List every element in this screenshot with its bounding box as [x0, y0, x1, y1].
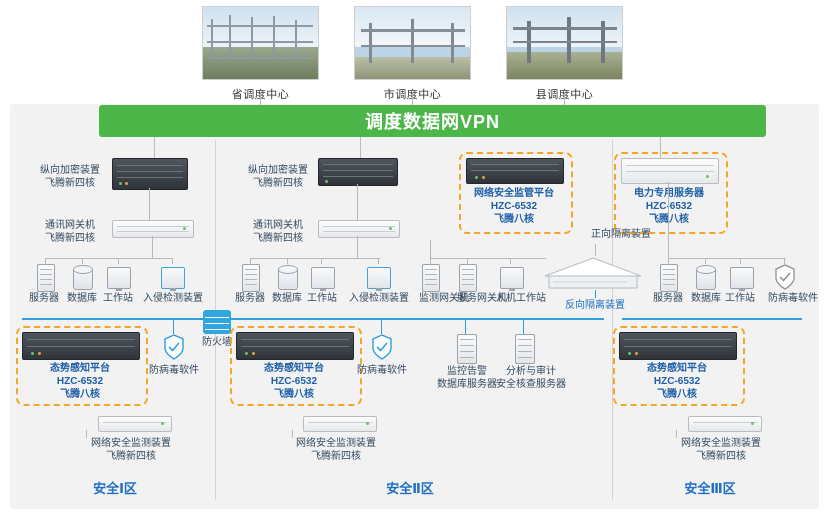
zone1-encryption-label-line2: 飞腾新四核 [30, 177, 110, 190]
photo-row: 省调度中心 市调度中心 [0, 0, 829, 100]
zone1-antivirus-drop [173, 318, 174, 334]
zone1-gateway-label-line2: 飞腾新四核 [32, 232, 108, 245]
zone-label-1: 安全Ⅰ区 [55, 478, 175, 497]
zone1-situation-device [22, 332, 140, 360]
zone1-encryption-label-line1: 纵向加密装置 [30, 164, 110, 177]
zone2-situation-label-1: 态势感知平台 [234, 362, 354, 375]
zone2-encryption-device [318, 158, 398, 186]
zone2-gateway-label-line1: 通讯网关机 [240, 219, 316, 232]
zone3-icon-drop-2 [705, 258, 706, 264]
photo-provincial-dispatch-center [202, 6, 319, 80]
zone-separator-2 [612, 140, 613, 500]
zone1-encrypt-to-gateway-line [149, 188, 150, 220]
zone2-encrypt-to-gateway-line [357, 184, 358, 220]
zone2-icon-drop-4 [378, 258, 379, 264]
zone3-isolation-uplink [595, 244, 596, 256]
zone2-encryption-label-line2: 飞腾新四核 [238, 177, 318, 190]
zone2-situation-label-3: 飞腾八核 [234, 388, 354, 401]
zone3-power-server-device [621, 158, 719, 184]
zone3-workstation-icon [730, 267, 754, 289]
photo-cell-provincial: 省调度中心 [188, 6, 333, 102]
zone2-platform-label-1: 网络安全监管平台 [459, 187, 569, 200]
zone2-situation-label-2: HZC-6532 [234, 375, 354, 388]
zone2-service-gateway-icon [459, 264, 477, 292]
zone3-icon-bus [668, 258, 786, 259]
zone3-database-icon [696, 265, 714, 289]
zone2-monitor-label-2: 飞腾新四核 [268, 450, 404, 463]
photo-cell-county: 县调度中心 [492, 6, 637, 102]
photo-vpn-connector-2 [412, 92, 413, 105]
zone2-workstation-icon [311, 267, 335, 289]
zone2-antivirus-icon [371, 334, 393, 360]
photo-vpn-connector-3 [564, 92, 565, 105]
zone1-icon-drop-3 [118, 258, 119, 264]
vpn-bar: 调度数据网VPN [99, 105, 766, 137]
zone1-icon-bus-ext [157, 258, 173, 259]
zone2-audit-server-icon-1 [457, 334, 477, 364]
zone3-situation-label-3: 飞腾八核 [617, 388, 737, 401]
photo-cell-municipal: 市调度中心 [340, 6, 485, 102]
zone2-platform-label-3: 飞腾八核 [459, 213, 569, 226]
vpn-drop-zone2 [360, 137, 361, 159]
zone2-right-icon-bus [430, 258, 546, 259]
zone2-bus-line [228, 318, 604, 320]
zone2-encryption-label-line1: 纵向加密装置 [238, 164, 318, 177]
zone1-monitor-label-2: 飞腾新四核 [63, 450, 199, 463]
zone1-intrusion-detection-icon [161, 267, 185, 289]
zone3-server-drop [668, 182, 669, 258]
zone1-gateway-label-line1: 通讯网关机 [32, 219, 108, 232]
zone3-antivirus-icon [774, 264, 796, 290]
zone2-icon-drop-3 [321, 258, 322, 264]
zone2-right-drop-3 [510, 258, 511, 264]
zone1-server-icon [37, 264, 55, 292]
zone2-audit-label-3: 分析与审计 [488, 365, 574, 378]
zone1-icon-bus [45, 258, 157, 259]
zone1-situation-label-3: 飞腾八核 [20, 388, 140, 401]
zone1-bus-line [22, 318, 208, 320]
zone2-monitor-label-1: 网络安全监测装置 [268, 437, 404, 450]
zone3-situation-label-1: 态势感知平台 [617, 362, 737, 375]
zone3-monitor-label-1: 网络安全监测装置 [653, 437, 789, 450]
zone3-isolation-device [543, 256, 643, 294]
zone1-situation-label-1: 态势感知平台 [20, 362, 140, 375]
zone-label-2: 安全Ⅱ区 [350, 478, 470, 497]
zone3-bus-line [622, 318, 802, 320]
zone2-antivirus-drop [381, 318, 382, 334]
zone1-firewall-icon [203, 310, 231, 334]
zone3-monitor-label-2: 飞腾新四核 [653, 450, 789, 463]
vpn-drop-zone1 [154, 137, 155, 159]
zone1-workstation-icon [107, 267, 131, 289]
zone3-forward-isolation-label: 正向隔离装置 [566, 228, 676, 241]
zone2-audit-drop-1 [465, 318, 466, 334]
zone2-platform-label-2: HZC-6532 [459, 200, 569, 213]
zone-label-3: 安全Ⅲ区 [650, 478, 770, 497]
zone2-icon-label-3: 入侵检测装置 [342, 292, 416, 305]
zone2-database-icon [278, 265, 296, 289]
zone2-intrusion-detection-icon [367, 267, 391, 289]
zone2-hmi-workstation-icon [500, 267, 524, 289]
zone1-monitor-label-1: 网络安全监测装置 [63, 437, 199, 450]
zone3-power-server-label-3: 飞腾八核 [614, 213, 724, 226]
zone1-antivirus-icon [163, 334, 185, 360]
zone2-audit-drop-2 [523, 318, 524, 334]
zone1-gateway-device [112, 220, 194, 238]
zone1-icon-label-3: 入侵检测装置 [136, 292, 210, 305]
zone3-icon-drop-3 [740, 258, 741, 264]
zone3-situation-label-2: HZC-6532 [617, 375, 737, 388]
zone2-antivirus-label: 防病毒软件 [352, 364, 412, 377]
zone2-audit-label-4: 安全核查服务器 [488, 378, 574, 391]
photo-municipal-dispatch-center [354, 6, 471, 80]
photo-county-dispatch-center [506, 6, 623, 80]
zone2-audit-server-icon-2 [515, 334, 535, 364]
zone1-gateway-drop [152, 236, 153, 258]
zone1-encryption-device [112, 158, 188, 190]
zone1-icon-drop-2 [82, 258, 83, 264]
zone1-antivirus-label: 防病毒软件 [144, 364, 204, 377]
diagram-root: 省调度中心 市调度中心 [0, 0, 829, 519]
zone1-monitor-device [98, 416, 172, 432]
photo-vpn-connector-1 [260, 92, 261, 105]
zone2-icon-label-2: 工作站 [298, 292, 346, 305]
zone2-gateway-label-line2: 飞腾新四核 [240, 232, 316, 245]
zone3-reverse-isolation-label: 反向隔离装置 [540, 299, 650, 312]
zone1-situation-label-2: HZC-6532 [20, 375, 140, 388]
zone3-power-server-label-2: HZC-6532 [614, 200, 724, 213]
zone3-isolation-downlink [595, 290, 596, 298]
zone2-gateway-drop [357, 236, 358, 258]
zone3-situation-device [619, 332, 737, 360]
zone3-icon-label-3: 防病毒软件 [757, 292, 829, 305]
zone2-monitor-gateway-icon [422, 264, 440, 292]
zone2-monitor-device [303, 416, 377, 432]
zone2-gateway-device [318, 220, 400, 238]
zone1-database-icon [73, 265, 91, 289]
zone2-situation-device [236, 332, 354, 360]
zone2-server-icon [242, 264, 260, 292]
zone2-right-uplink [430, 240, 431, 258]
zone3-server-icon [660, 264, 678, 292]
zone2-platform-device [466, 158, 564, 184]
zone3-monitor-device [688, 416, 762, 432]
zone1-icon-label-2: 工作站 [94, 292, 142, 305]
zone2-icon-bus [250, 258, 380, 259]
zone3-power-server-label-1: 电力专用服务器 [614, 187, 724, 200]
zone2-icon-drop-2 [287, 258, 288, 264]
